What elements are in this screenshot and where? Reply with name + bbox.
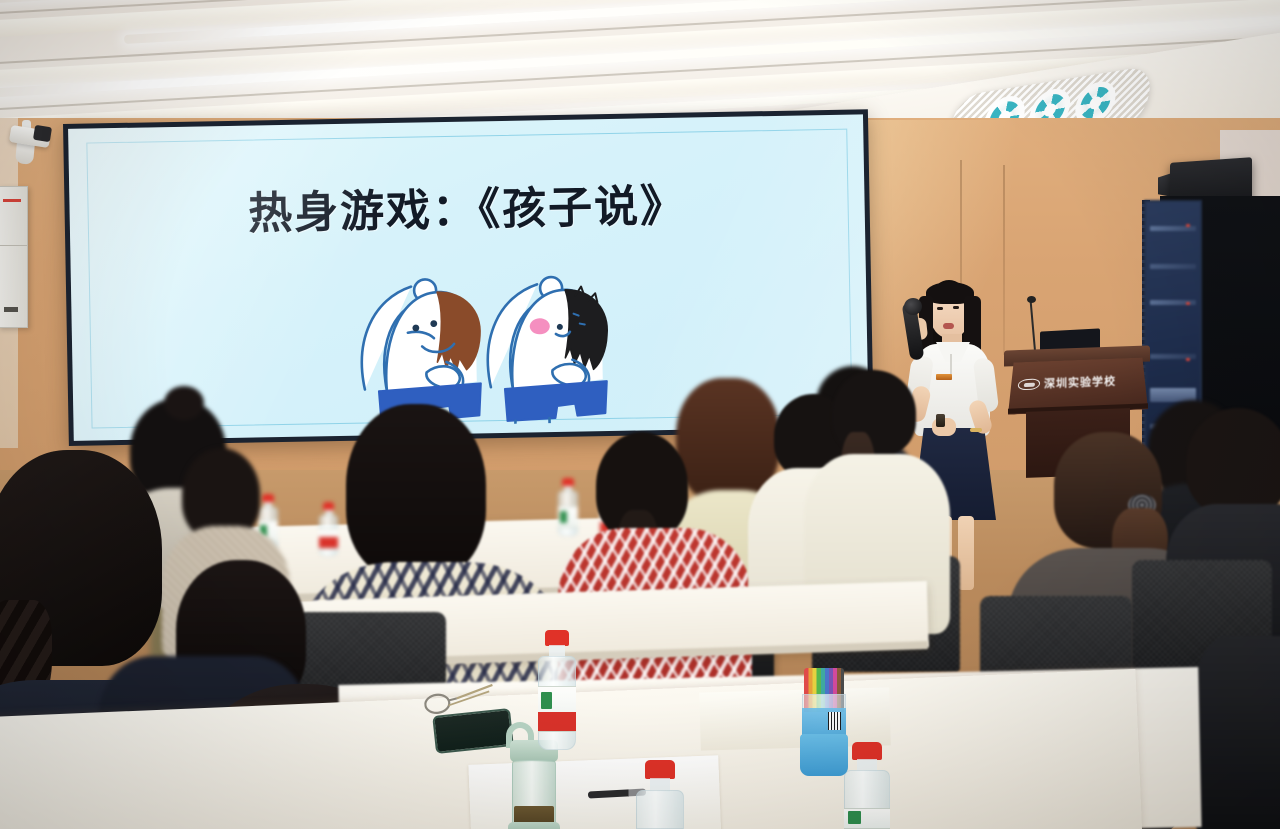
podium-microphone-icon: [1027, 296, 1036, 303]
presenter-eye-right: [953, 306, 959, 309]
seminar-room-photo: 热身游戏：《孩子说》: [0, 0, 1280, 829]
water-bottle[interactable]: [558, 478, 578, 536]
panel-label-strip: [4, 307, 18, 312]
presenter-mouth: [943, 323, 954, 329]
podium-logo-text: 深圳实验学校: [1044, 373, 1116, 392]
presentation-clicker-icon[interactable]: [936, 414, 945, 427]
presenter-bracelet: [970, 428, 982, 432]
panel-status-led-red: [3, 199, 21, 202]
water-bottle[interactable]: [319, 502, 338, 556]
marker-pen-case[interactable]: [800, 668, 848, 776]
presenter-name-badge: [936, 374, 952, 380]
marker-case-base: [800, 734, 848, 776]
wall-control-panel[interactable]: [0, 186, 28, 328]
security-camera-lens-icon: [33, 125, 52, 142]
water-bottle[interactable]: [844, 742, 890, 829]
tumbler-collar: [508, 822, 560, 829]
hair-bun: [164, 386, 204, 420]
panel-divider: [0, 245, 27, 246]
two-children-stretching-cartoon-icon: [328, 237, 611, 432]
water-bottle[interactable]: [636, 760, 684, 829]
water-bottle[interactable]: [538, 630, 576, 750]
marker-case-barcode: [828, 712, 841, 730]
school-emblem-icon: [1017, 378, 1041, 390]
presenter-eye-left: [937, 307, 943, 310]
presenter-leg-right: [958, 516, 974, 590]
